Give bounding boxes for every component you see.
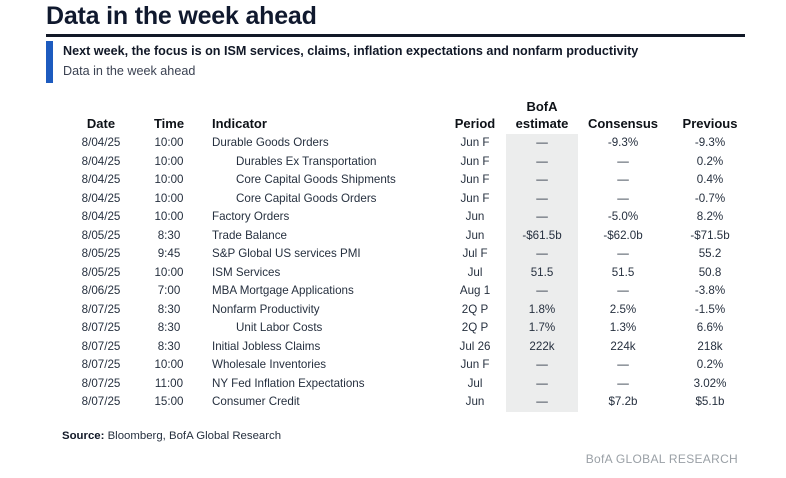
cell-indicator: Core Capital Goods Orders xyxy=(198,190,444,209)
column-header-previous: Previous xyxy=(668,98,752,134)
table-row: 8/04/2510:00Core Capital Goods OrdersJun… xyxy=(62,190,752,209)
column-header-indicator: Indicator xyxy=(198,98,444,134)
cell-time: 8:30 xyxy=(140,319,198,338)
cell-date: 8/07/25 xyxy=(62,356,140,375)
cell-bofa-estimate: 222k xyxy=(506,338,578,357)
cell-bofa-estimate: 51.5 xyxy=(506,264,578,283)
page-title: Data in the week ahead xyxy=(46,1,317,31)
column-header-consensus: Consensus xyxy=(578,98,668,134)
cell-consensus: 224k xyxy=(578,338,668,357)
subtitle-secondary: Data in the week ahead xyxy=(63,61,195,82)
cell-indicator: Consumer Credit xyxy=(198,393,444,412)
cell-date: 8/07/25 xyxy=(62,319,140,338)
cell-indicator: Core Capital Goods Shipments xyxy=(198,171,444,190)
subtitle-block: Next week, the focus is on ISM services,… xyxy=(46,41,745,83)
cell-previous: -0.7% xyxy=(668,190,752,209)
cell-bofa-estimate: — xyxy=(506,393,578,412)
cell-bofa-estimate: -$61.5b xyxy=(506,227,578,246)
calendar-table-wrapper: Date Time Indicator Period BofA estimate… xyxy=(62,98,742,412)
cell-time: 8:30 xyxy=(140,227,198,246)
column-header-bofa-line2: estimate xyxy=(506,115,578,133)
accent-bar xyxy=(46,41,53,83)
cell-period: Jul F xyxy=(444,245,506,264)
cell-date: 8/05/25 xyxy=(62,227,140,246)
cell-period: Jun F xyxy=(444,356,506,375)
table-row: 8/05/259:45S&P Global US services PMIJul… xyxy=(62,245,752,264)
table-row: 8/06/257:00MBA Mortgage ApplicationsAug … xyxy=(62,282,752,301)
cell-time: 10:00 xyxy=(140,356,198,375)
cell-consensus: — xyxy=(578,356,668,375)
cell-period: Jun F xyxy=(444,153,506,172)
cell-consensus: -9.3% xyxy=(578,134,668,153)
cell-consensus: -5.0% xyxy=(578,208,668,227)
cell-date: 8/07/25 xyxy=(62,301,140,320)
subtitle-headline: Next week, the focus is on ISM services,… xyxy=(63,41,638,62)
cell-consensus: 1.3% xyxy=(578,319,668,338)
column-header-date: Date xyxy=(62,98,140,134)
cell-time: 10:00 xyxy=(140,134,198,153)
cell-indicator: Durable Goods Orders xyxy=(198,134,444,153)
table-row: 8/04/2510:00Factory OrdersJun—-5.0%8.2% xyxy=(62,208,752,227)
cell-bofa-estimate: 1.8% xyxy=(506,301,578,320)
cell-indicator: NY Fed Inflation Expectations xyxy=(198,375,444,394)
cell-time: 15:00 xyxy=(140,393,198,412)
table-row: 8/05/2510:00ISM ServicesJul51.551.550.8 xyxy=(62,264,752,283)
cell-previous: 0.2% xyxy=(668,153,752,172)
cell-consensus: $7.2b xyxy=(578,393,668,412)
cell-previous: $5.1b xyxy=(668,393,752,412)
cell-bofa-estimate: — xyxy=(506,190,578,209)
cell-date: 8/04/25 xyxy=(62,190,140,209)
cell-indicator: ISM Services xyxy=(198,264,444,283)
cell-previous: 3.02% xyxy=(668,375,752,394)
cell-time: 10:00 xyxy=(140,208,198,227)
cell-previous: 218k xyxy=(668,338,752,357)
cell-date: 8/07/25 xyxy=(62,393,140,412)
table-row: 8/04/2510:00Durable Goods OrdersJun F—-9… xyxy=(62,134,752,153)
cell-previous: -3.8% xyxy=(668,282,752,301)
cell-previous: 8.2% xyxy=(668,208,752,227)
report-page: Data in the week ahead Next week, the fo… xyxy=(0,0,786,478)
source-text: Bloomberg, BofA Global Research xyxy=(104,430,281,442)
table-row: 8/04/2510:00Durables Ex TransportationJu… xyxy=(62,153,752,172)
cell-date: 8/06/25 xyxy=(62,282,140,301)
cell-indicator: S&P Global US services PMI xyxy=(198,245,444,264)
cell-time: 8:30 xyxy=(140,338,198,357)
table-row: 8/07/258:30Nonfarm Productivity2Q P1.8%2… xyxy=(62,301,752,320)
cell-bofa-estimate: — xyxy=(506,375,578,394)
table-header-row: Date Time Indicator Period BofA estimate… xyxy=(62,98,752,134)
cell-previous: 55.2 xyxy=(668,245,752,264)
table-row: 8/05/258:30Trade BalanceJun-$61.5b-$62.0… xyxy=(62,227,752,246)
cell-period: Jun xyxy=(444,208,506,227)
cell-bofa-estimate: — xyxy=(506,153,578,172)
source-label: Source: xyxy=(62,430,104,442)
cell-time: 10:00 xyxy=(140,153,198,172)
cell-time: 10:00 xyxy=(140,190,198,209)
cell-period: 2Q P xyxy=(444,319,506,338)
column-header-time: Time xyxy=(140,98,198,134)
cell-consensus: 2.5% xyxy=(578,301,668,320)
cell-consensus: — xyxy=(578,153,668,172)
cell-previous: -$71.5b xyxy=(668,227,752,246)
cell-date: 8/04/25 xyxy=(62,171,140,190)
cell-bofa-estimate: 1.7% xyxy=(506,319,578,338)
cell-previous: -1.5% xyxy=(668,301,752,320)
cell-previous: 0.4% xyxy=(668,171,752,190)
cell-bofa-estimate: — xyxy=(506,208,578,227)
cell-indicator: Nonfarm Productivity xyxy=(198,301,444,320)
cell-bofa-estimate: — xyxy=(506,134,578,153)
cell-previous: -9.3% xyxy=(668,134,752,153)
cell-date: 8/05/25 xyxy=(62,245,140,264)
brand-watermark: BofA GLOBAL RESEARCH xyxy=(586,452,738,466)
cell-period: Aug 1 xyxy=(444,282,506,301)
cell-period: Jul xyxy=(444,264,506,283)
cell-consensus: — xyxy=(578,190,668,209)
cell-indicator: Trade Balance xyxy=(198,227,444,246)
table-row: 8/07/2515:00Consumer CreditJun—$7.2b$5.1… xyxy=(62,393,752,412)
cell-consensus: 51.5 xyxy=(578,264,668,283)
cell-date: 8/04/25 xyxy=(62,134,140,153)
table-body: 8/04/2510:00Durable Goods OrdersJun F—-9… xyxy=(62,134,752,412)
economic-calendar-table: Date Time Indicator Period BofA estimate… xyxy=(62,98,752,412)
cell-date: 8/07/25 xyxy=(62,375,140,394)
cell-indicator: Initial Jobless Claims xyxy=(198,338,444,357)
cell-time: 11:00 xyxy=(140,375,198,394)
cell-time: 10:00 xyxy=(140,171,198,190)
cell-time: 8:30 xyxy=(140,301,198,320)
cell-date: 8/04/25 xyxy=(62,208,140,227)
table-row: 8/07/258:30Unit Labor Costs2Q P1.7%1.3%6… xyxy=(62,319,752,338)
table-header: Date Time Indicator Period BofA estimate… xyxy=(62,98,752,134)
cell-consensus: -$62.0b xyxy=(578,227,668,246)
cell-previous: 0.2% xyxy=(668,356,752,375)
cell-indicator: Wholesale Inventories xyxy=(198,356,444,375)
cell-indicator: Durables Ex Transportation xyxy=(198,153,444,172)
table-row: 8/07/258:30Initial Jobless ClaimsJul 262… xyxy=(62,338,752,357)
cell-period: Jun xyxy=(444,227,506,246)
table-row: 8/07/2510:00Wholesale InventoriesJun F——… xyxy=(62,356,752,375)
table-row: 8/07/2511:00NY Fed Inflation Expectation… xyxy=(62,375,752,394)
cell-date: 8/05/25 xyxy=(62,264,140,283)
cell-bofa-estimate: — xyxy=(506,356,578,375)
cell-period: Jun F xyxy=(444,190,506,209)
cell-consensus: — xyxy=(578,375,668,394)
cell-bofa-estimate: — xyxy=(506,245,578,264)
cell-bofa-estimate: — xyxy=(506,282,578,301)
cell-time: 7:00 xyxy=(140,282,198,301)
cell-period: Jun F xyxy=(444,171,506,190)
cell-indicator: Unit Labor Costs xyxy=(198,319,444,338)
cell-date: 8/07/25 xyxy=(62,338,140,357)
cell-time: 10:00 xyxy=(140,264,198,283)
cell-consensus: — xyxy=(578,245,668,264)
cell-time: 9:45 xyxy=(140,245,198,264)
cell-previous: 6.6% xyxy=(668,319,752,338)
cell-previous: 50.8 xyxy=(668,264,752,283)
column-header-bofa-estimate: BofA estimate xyxy=(506,98,578,134)
column-header-period: Period xyxy=(444,98,506,134)
cell-bofa-estimate: — xyxy=(506,171,578,190)
cell-indicator: Factory Orders xyxy=(198,208,444,227)
source-note: Source: Bloomberg, BofA Global Research xyxy=(62,430,281,442)
column-header-bofa-line1: BofA xyxy=(506,98,578,115)
cell-period: Jul 26 xyxy=(444,338,506,357)
cell-consensus: — xyxy=(578,282,668,301)
table-row: 8/04/2510:00Core Capital Goods Shipments… xyxy=(62,171,752,190)
cell-indicator: MBA Mortgage Applications xyxy=(198,282,444,301)
cell-period: Jun F xyxy=(444,134,506,153)
cell-date: 8/04/25 xyxy=(62,153,140,172)
title-divider xyxy=(46,34,745,37)
cell-consensus: — xyxy=(578,171,668,190)
cell-period: Jul xyxy=(444,375,506,394)
cell-period: 2Q P xyxy=(444,301,506,320)
cell-period: Jun xyxy=(444,393,506,412)
